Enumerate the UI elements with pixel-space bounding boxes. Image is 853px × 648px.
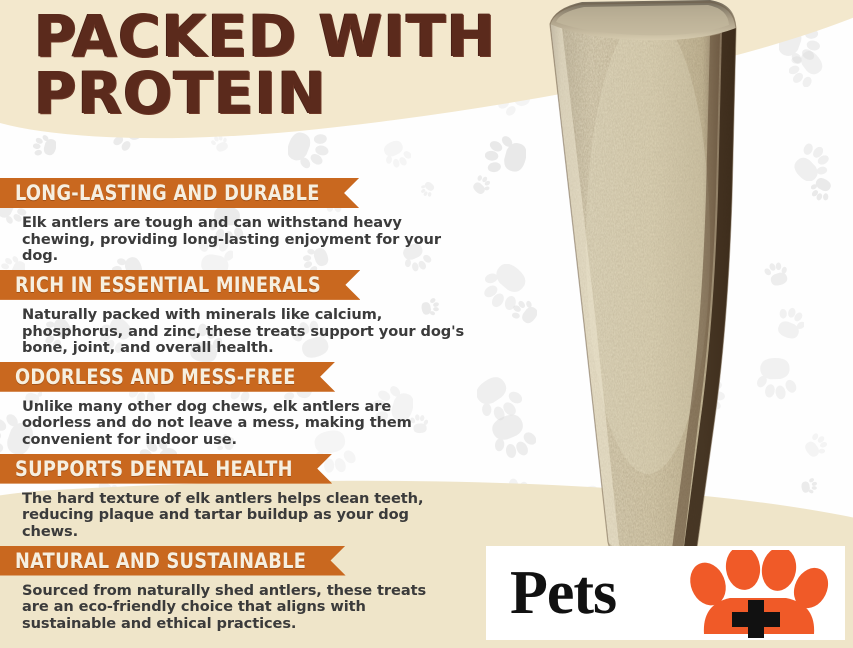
paw-print	[33, 135, 56, 159]
paw-print	[811, 178, 833, 201]
feature-item: SUPPORTS DENTAL HEALTH The hard texture …	[0, 454, 470, 541]
feature-description: Unlike many other dog chews, elk antlers…	[22, 399, 452, 449]
paw-print	[774, 307, 804, 339]
brand-logo: Pets	[486, 546, 845, 640]
paw-print	[804, 433, 827, 457]
feature-heading-banner: RICH IN ESSENTIAL MINERALS	[0, 270, 360, 300]
title-line-2: PROTEIN	[34, 65, 574, 122]
feature-list: LONG-LASTING AND DURABLE Elk antlers are…	[0, 178, 470, 637]
feature-heading-banner: LONG-LASTING AND DURABLE	[0, 178, 359, 208]
page-title: PACKED WITH PROTEIN	[34, 8, 574, 122]
paw-print	[789, 51, 824, 88]
paw-print	[384, 139, 412, 168]
feature-heading-banner: NATURAL AND SUSTAINABLE	[0, 546, 346, 576]
paw-print	[211, 135, 228, 153]
feature-item: ODORLESS AND MESS-FREE Unlike many other…	[0, 362, 470, 449]
paw-print	[801, 477, 817, 494]
feature-description: The hard texture of elk antlers helps cl…	[22, 491, 452, 541]
feature-description: Naturally packed with minerals like calc…	[22, 307, 474, 357]
feature-item: NATURAL AND SUSTAINABLE Sourced from nat…	[0, 546, 470, 633]
paw-print	[792, 143, 829, 181]
feature-item: RICH IN ESSENTIAL MINERALS Naturally pac…	[0, 270, 470, 357]
paw-print	[472, 175, 490, 194]
feature-description: Sourced from naturally shed antlers, the…	[22, 583, 452, 633]
paw-plus-icon	[682, 550, 832, 638]
feature-heading-banner: ODORLESS AND MESS-FREE	[0, 362, 335, 392]
feature-item: LONG-LASTING AND DURABLE Elk antlers are…	[0, 178, 470, 265]
infographic-canvas: PACKED WITH PROTEIN LONG-LASTING AND DUR…	[0, 0, 853, 648]
feature-description: Elk antlers are tough and can withstand …	[22, 215, 452, 265]
feature-heading-banner: SUPPORTS DENTAL HEALTH	[0, 454, 332, 484]
paw-print	[288, 126, 329, 168]
brand-name: Pets	[510, 562, 616, 624]
